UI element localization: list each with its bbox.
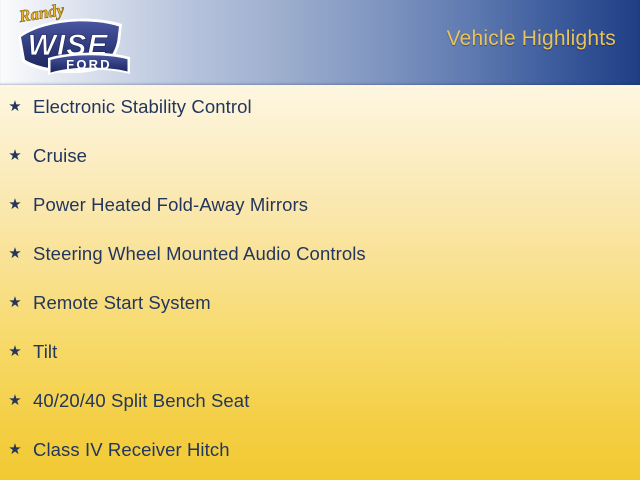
list-item: ★ Class IV Receiver Hitch: [8, 435, 632, 465]
list-item: ★ Electronic Stability Control: [8, 92, 632, 122]
list-item: ★ Tilt: [8, 337, 632, 367]
star-icon: ★: [8, 148, 22, 164]
highlight-label: Cruise: [33, 145, 87, 167]
logo-ford-banner: FORD: [48, 53, 130, 75]
vehicle-highlights-page: WISE Randy FORD Vehicle Highlights ★ Ele…: [0, 0, 640, 480]
list-item: ★ Steering Wheel Mounted Audio Controls: [8, 239, 632, 269]
highlight-label: Class IV Receiver Hitch: [33, 439, 230, 461]
highlight-label: Electronic Stability Control: [33, 96, 252, 118]
svg-text:FORD: FORD: [66, 57, 112, 72]
page-title: Vehicle Highlights: [447, 27, 616, 51]
page-header: WISE Randy FORD Vehicle Highlights: [0, 0, 640, 85]
list-item: ★ 40/20/40 Split Bench Seat: [8, 386, 632, 416]
highlight-label: Tilt: [33, 341, 57, 363]
list-item: ★ Cruise: [8, 141, 632, 171]
star-icon: ★: [8, 197, 22, 213]
star-icon: ★: [8, 442, 22, 458]
highlight-label: Power Heated Fold-Away Mirrors: [33, 194, 308, 216]
list-item: ★ Remote Start System: [8, 288, 632, 318]
dealer-logo: WISE Randy FORD: [4, 2, 134, 80]
list-item: ★ Power Heated Fold-Away Mirrors: [8, 190, 632, 220]
highlight-label: 40/20/40 Split Bench Seat: [33, 390, 249, 412]
star-icon: ★: [8, 295, 22, 311]
highlight-label: Remote Start System: [33, 292, 211, 314]
star-icon: ★: [8, 246, 22, 262]
highlight-label: Steering Wheel Mounted Audio Controls: [33, 243, 366, 265]
star-icon: ★: [8, 344, 22, 360]
star-icon: ★: [8, 393, 22, 409]
vehicle-highlights-list: ★ Electronic Stability Control ★ Cruise …: [0, 85, 640, 480]
star-icon: ★: [8, 99, 22, 115]
